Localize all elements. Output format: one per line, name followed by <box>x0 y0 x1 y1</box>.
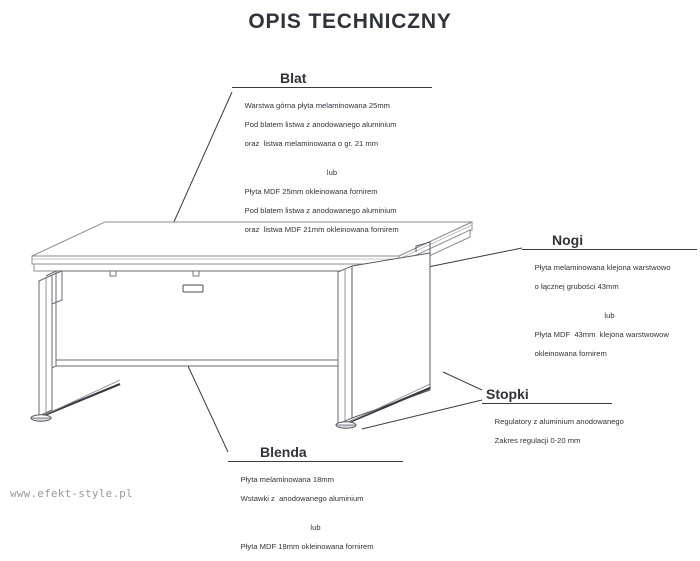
modesty-panel <box>56 271 350 360</box>
blenda-alt-label: lub <box>228 523 403 533</box>
blat-line-6: oraz listwa MDF 21mm okleinowana fornire… <box>245 225 399 234</box>
callout-stopki-heading: Stopki <box>482 386 612 402</box>
modesty-insert-right <box>193 271 199 276</box>
callout-nogi: Nogi Płyta melaminowana klejona warstwow… <box>522 232 697 368</box>
callout-nogi-heading: Nogi <box>522 232 697 248</box>
technical-drawing-page: OPIS TECHNICZNY <box>0 0 700 511</box>
modesty-insert-left <box>110 271 116 276</box>
callout-nogi-rule <box>522 249 697 250</box>
blat-line-5: Pod blatem listwa z anodowanego aluminiu… <box>245 206 397 215</box>
callout-blat-body: Warstwa górna płyta melaminowana 25mm Po… <box>232 91 432 245</box>
callout-blenda-heading: Blenda <box>228 444 403 460</box>
blenda-line-2: Wstawki z anodowanego aluminium <box>241 494 364 503</box>
stopki-line-1: Regulatory z aluminium anodowanego <box>495 417 624 426</box>
modesty-panel-bottom-rail <box>56 360 350 366</box>
blenda-line-3: Płyta MDF 18mm okleinowana fornirem <box>241 542 374 551</box>
callout-stopki-body: Regulatory z aluminium anodowanego Zakre… <box>482 407 612 455</box>
nogi-alt-label: lub <box>522 311 697 321</box>
desktop-front-edge <box>32 256 399 264</box>
blenda-line-1: Płyta melaminowana 18mm <box>241 475 334 484</box>
blat-line-1: Warstwa górna płyta melaminowana 25mm <box>245 101 390 110</box>
nogi-line-2: o łącznej grubości 43mm <box>535 282 619 291</box>
leader-line-blenda <box>188 366 228 452</box>
blat-line-3: oraz listwa melaminowana o gr. 21 mm <box>245 139 378 148</box>
left-leg-column <box>39 275 52 416</box>
callout-blat-rule <box>232 87 432 88</box>
blat-alt-label: lub <box>232 168 432 178</box>
stopki-line-2: Zakres regulacji 0-20 mm <box>495 436 581 445</box>
blat-line-4: Płyta MDF 25mm okleinowana fornirem <box>245 187 378 196</box>
callout-stopki: Stopki Regulatory z aluminium anodowaneg… <box>482 386 612 455</box>
callout-blenda-body: Płyta melaminowana 18mm Wstawki z anodow… <box>228 465 403 561</box>
callout-blenda: Blenda Płyta melaminowana 18mm Wstawki z… <box>228 444 403 561</box>
callout-blat: Blat Warstwa górna płyta melaminowana 25… <box>232 70 432 245</box>
callout-blat-heading: Blat <box>232 70 432 86</box>
leader-line-stopki-b <box>443 372 482 390</box>
cable-grommet <box>183 285 203 292</box>
callout-nogi-body: Płyta melaminowana klejona warstwowo o ł… <box>522 253 697 368</box>
callout-blenda-rule <box>228 461 403 462</box>
watermark: www.efekt-style.pl <box>10 487 133 500</box>
nogi-line-4: okleinowana fornirem <box>535 349 607 358</box>
blat-line-2: Pod blatem listwa z anodowanego aluminiu… <box>245 120 397 129</box>
nogi-line-1: Płyta melaminowana klejona warstwowo <box>535 263 671 272</box>
callout-stopki-rule <box>482 403 612 404</box>
nogi-line-3: Płyta MDF 43mm klejona warstwowow <box>535 330 669 339</box>
